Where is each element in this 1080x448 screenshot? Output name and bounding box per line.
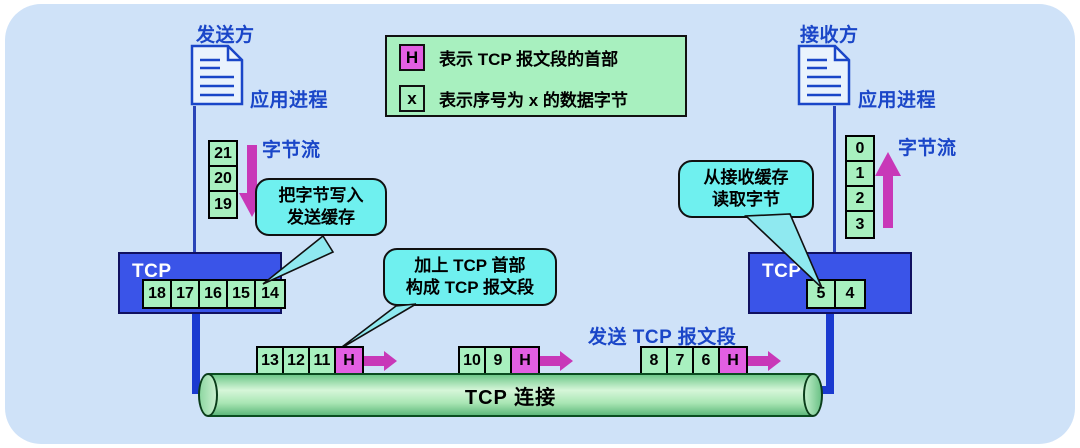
legend-row-data: x 表示序号为 x 的数据字节: [387, 78, 685, 119]
byte-cell: 11: [310, 348, 336, 374]
byte-cell: 12: [284, 348, 310, 374]
header-cell: H: [512, 348, 538, 374]
segment-3-cells: 8 7 6 H: [640, 346, 748, 376]
byte-cell: 6: [694, 348, 720, 374]
callout-line-2: 读取字节: [712, 189, 780, 211]
legend-row-header: H 表示 TCP 报文段的首部: [387, 37, 685, 78]
segment-2-arrow-icon: [540, 350, 574, 372]
receiver-app-process-label: 应用进程: [858, 85, 936, 112]
callout-write-to-send-buffer: 把字节写入 发送缓存: [255, 178, 387, 236]
segment-1-arrow-icon: [364, 350, 398, 372]
segment-1-cells: 13 12 11 H: [256, 346, 364, 376]
byte-cell: 1: [847, 162, 873, 187]
callout-line-2: 构成 TCP 报文段: [406, 277, 534, 299]
legend-header-text: 表示 TCP 报文段的首部: [439, 45, 618, 70]
callout-line-1: 加上 TCP 首部: [414, 255, 525, 277]
tcp-connection-pipe: TCP 连接: [198, 373, 823, 417]
byte-cell: 21: [210, 142, 236, 167]
callout-line-1: 把字节写入: [279, 185, 364, 207]
byte-cell: 17: [172, 281, 200, 307]
segment-1: 13 12 11 H: [256, 346, 398, 376]
tcp-connection-label: TCP 连接: [198, 373, 823, 417]
sender-process-connector-line: [193, 106, 196, 254]
receiver-document-icon: [797, 44, 851, 106]
byte-cell: 19: [210, 192, 236, 217]
byte-cell: 2: [847, 187, 873, 212]
byte-cell: 8: [642, 348, 668, 374]
sender-stream-bytes: 21 20 19: [208, 140, 238, 219]
byte-cell: 9: [486, 348, 512, 374]
legend-header-cell: H: [399, 44, 425, 71]
sender-document-icon: [190, 44, 244, 106]
header-cell: H: [720, 348, 746, 374]
byte-cell: 0: [847, 137, 873, 162]
callout-line-1: 从接收缓存: [704, 167, 789, 189]
legend-data-text: 表示序号为 x 的数据字节: [439, 86, 628, 111]
send-segment-label: 发送 TCP 报文段: [588, 322, 736, 349]
segment-3-arrow-icon: [748, 350, 782, 372]
legend-box: H 表示 TCP 报文段的首部 x 表示序号为 x 的数据字节: [385, 35, 687, 117]
byte-cell: 20: [210, 167, 236, 192]
legend-data-cell: x: [399, 85, 425, 112]
segment-2-cells: 10 9 H: [458, 346, 540, 376]
receiver-role-label: 接收方: [800, 20, 859, 47]
byte-cell: 13: [258, 348, 284, 374]
callout-line-2: 发送缓存: [287, 207, 355, 229]
callout-read-from-receive-buffer: 从接收缓存 读取字节: [678, 160, 814, 218]
header-cell: H: [336, 348, 362, 374]
segment-3: 8 7 6 H: [640, 346, 782, 376]
receiver-stream-label: 字节流: [898, 133, 957, 160]
sender-app-process-label: 应用进程: [250, 85, 328, 112]
receiver-stream-up-arrow-icon: [872, 150, 902, 228]
byte-cell: 7: [668, 348, 694, 374]
callout-write-pointer: [215, 232, 335, 292]
callout-add-tcp-header: 加上 TCP 首部 构成 TCP 报文段: [383, 248, 557, 306]
sender-stream-label: 字节流: [262, 135, 321, 162]
byte-cell: 10: [460, 348, 486, 374]
callout-read-pointer: [740, 212, 860, 292]
sender-role-label: 发送方: [196, 20, 255, 47]
receiver-pipe-connector-vertical: [826, 314, 834, 386]
diagram-canvas: 发送方 应用进程 21 20 19 字节流 H 表示 TCP 报文段的首部 x …: [0, 0, 1080, 448]
byte-cell: 18: [144, 281, 172, 307]
segment-2: 10 9 H: [458, 346, 574, 376]
